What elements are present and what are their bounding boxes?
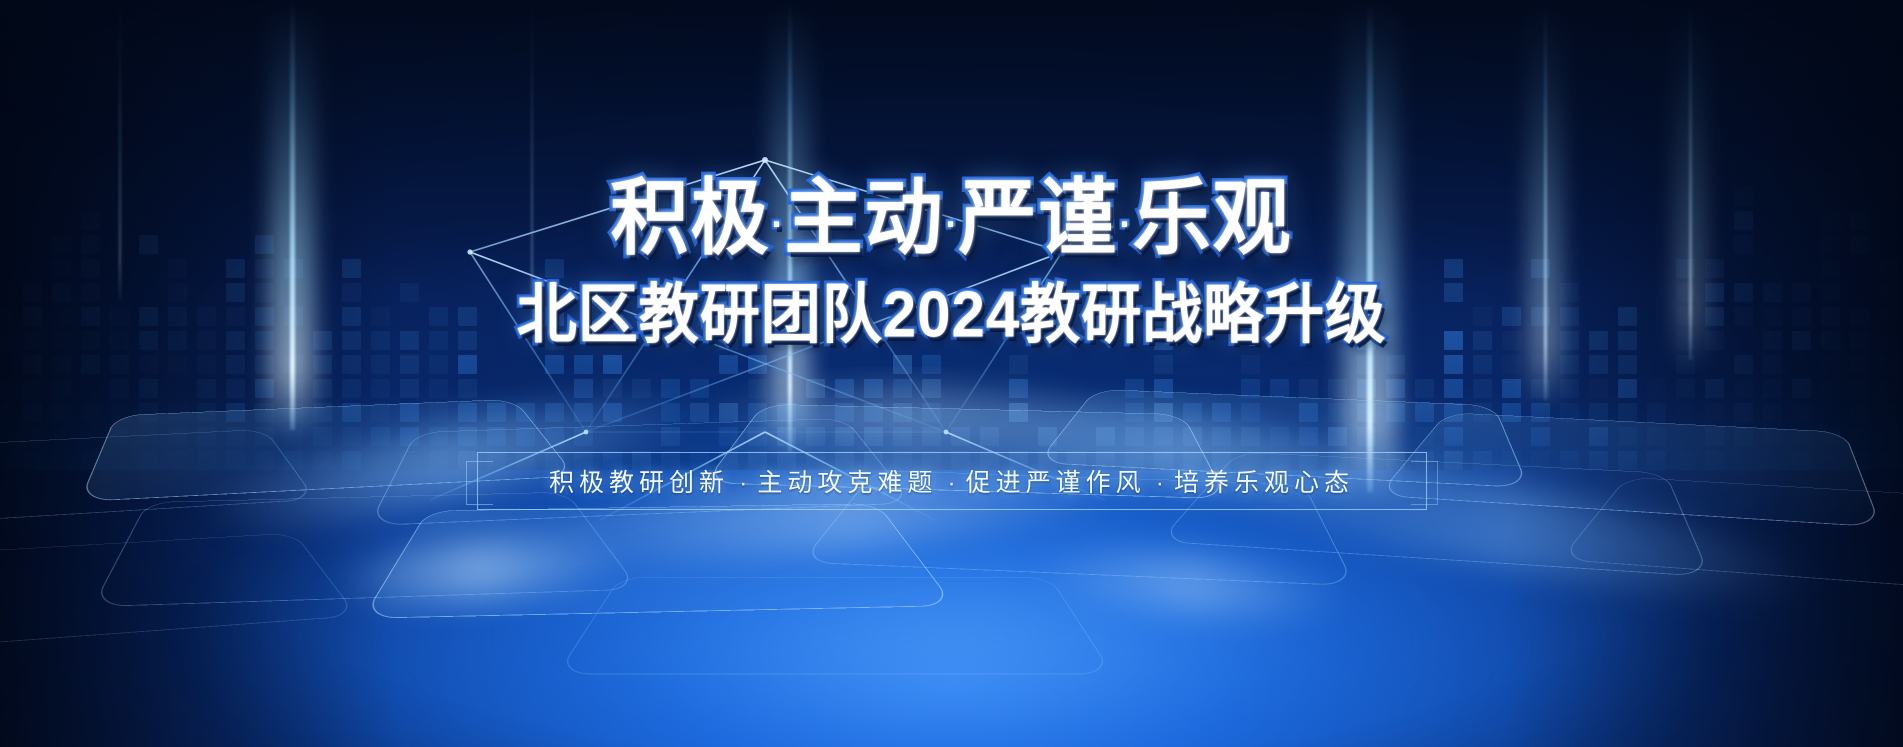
slogan-dot-1: · [729, 469, 757, 497]
slogan-text: 积极教研创新·主动攻克难题·促进严谨作风·培养乐观心态 [549, 463, 1354, 499]
promo-banner: 积极·主动·严谨·乐观 北区教研团队2024教研战略升级 积极教研创新·主动攻克… [0, 0, 1903, 747]
slogan-frame: 积极教研创新·主动攻克难题·促进严谨作风·培养乐观心态 [477, 452, 1427, 510]
slogan-item-2: 主动攻克难题 [757, 469, 937, 497]
slogan-dot-3: · [1146, 469, 1174, 497]
perspective-floor-decoration [0, 367, 1903, 747]
slogan-item-3: 促进严谨作风 [966, 469, 1146, 497]
slogan-dot-2: · [937, 469, 965, 497]
slogan-item-4: 培养乐观心态 [1174, 469, 1354, 497]
slogan-item-1: 积极教研创新 [549, 469, 729, 497]
